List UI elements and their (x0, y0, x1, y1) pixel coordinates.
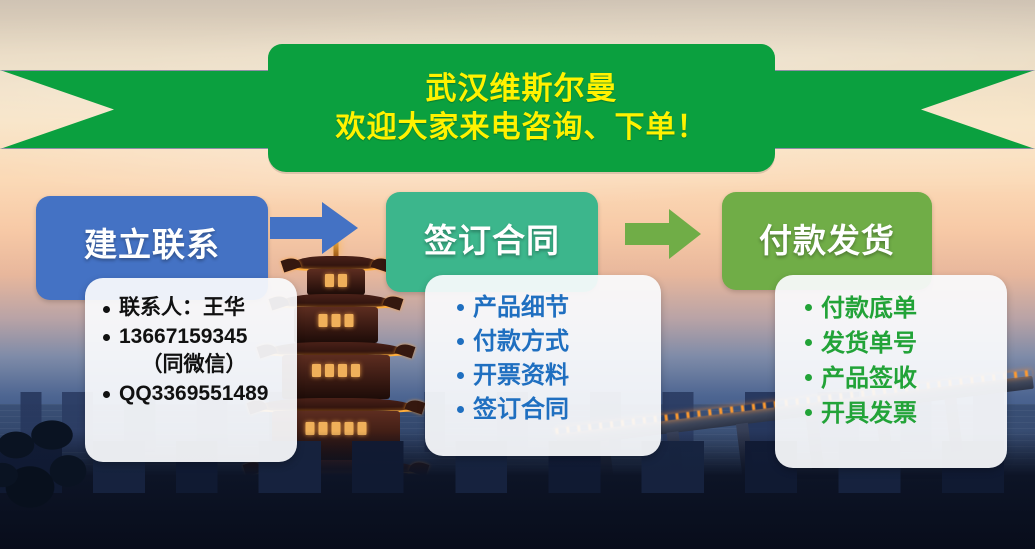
pagoda-windows (319, 314, 354, 327)
step-title: 付款发货 (759, 214, 895, 262)
list-item: 付款方式 (453, 325, 647, 359)
step-card-establish-contact: 联系人：王华 13667159345 （同微信） QQ3369551489 (85, 278, 297, 462)
list-item: 13667159345 (99, 323, 283, 352)
list-item: 付款底单 (801, 291, 993, 326)
list-item: 发货单号 (801, 326, 993, 361)
ribbon-banner: 武汉维斯尔曼 欢迎大家来电咨询、下单！ (0, 0, 1035, 186)
ribbon-panel: 武汉维斯尔曼 欢迎大家来电咨询、下单！ (268, 44, 775, 172)
arrow-right-blue-icon (270, 200, 358, 256)
list-item: 开票资料 (453, 359, 647, 393)
pagoda-windows (312, 364, 360, 377)
list-item: 开具发票 (801, 396, 993, 431)
list-item-note: （同微信） (99, 351, 283, 380)
contact-list: 联系人：王华 13667159345 （同微信） QQ3369551489 (99, 294, 283, 408)
step-title: 签订合同 (424, 214, 560, 262)
step-title: 建立联系 (84, 218, 220, 266)
shipping-list: 付款底单 发货单号 产品签收 开具发票 (789, 291, 993, 431)
list-item: 联系人：王华 (99, 294, 283, 323)
company-name: 武汉维斯尔曼 (426, 70, 618, 108)
pagoda-windows (325, 274, 347, 287)
contract-list: 产品细节 付款方式 开票资料 签订合同 (439, 291, 647, 427)
ribbon-tail-right (735, 70, 1035, 149)
step-card-payment-shipping: 付款底单 发货单号 产品签收 开具发票 (775, 275, 1007, 468)
step-card-sign-contract: 产品细节 付款方式 开票资料 签订合同 (425, 275, 661, 456)
ribbon-tail-left (0, 70, 300, 149)
arrow-right-green-icon (625, 208, 701, 260)
list-item: QQ3369551489 (99, 380, 283, 409)
promo-poster: 武汉维斯尔曼 欢迎大家来电咨询、下单！ 建立联系 联系人：王华 13667159… (0, 0, 1035, 549)
pagoda-tier (282, 355, 390, 399)
list-item: 产品签收 (801, 361, 993, 396)
list-item: 产品细节 (453, 291, 647, 325)
tagline: 欢迎大家来电咨询、下单！ (336, 110, 708, 147)
list-item: 签订合同 (453, 393, 647, 427)
pagoda-eave (290, 256, 382, 269)
